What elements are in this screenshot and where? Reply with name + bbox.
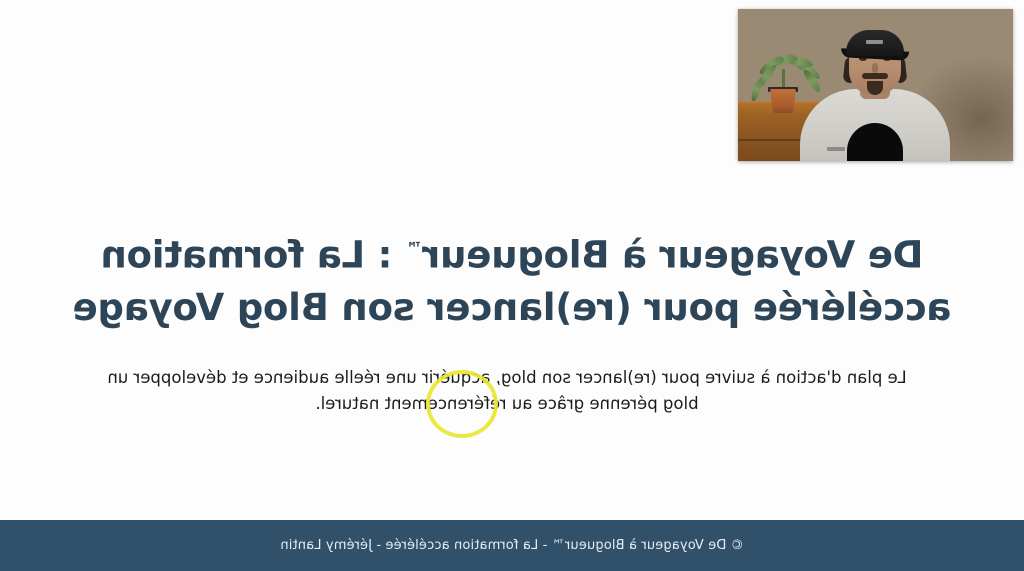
slide-title-line-1: De Voyageur à Blogueur™ : La formation [70, 222, 954, 281]
slide-title-line-1-suffix: : La formation [101, 233, 405, 276]
shirt-logo [828, 147, 846, 151]
slide-footer-text: © De Voyageur à Blogueur™ - La formation… [280, 538, 744, 553]
presenter-moustache [863, 73, 889, 79]
presenter-webcam [738, 9, 1013, 161]
slide-title-line-2: accélérée pour (re)lancer son Blog Voyag… [70, 281, 954, 334]
trademark-symbol: ™ [405, 239, 422, 258]
mirrored-frame-content: De Voyageur à Blogueur™ : La formation a… [0, 0, 1024, 571]
slide-title-line-1-prefix: De Voyageur à Blogueur [422, 233, 923, 276]
video-frame: De Voyageur à Blogueur™ : La formation a… [0, 0, 1024, 571]
plant-pot [770, 89, 796, 113]
webcam-scene [738, 9, 1013, 161]
slide-title: De Voyageur à Blogueur™ : La formation a… [70, 222, 954, 334]
slide-footer-bar: © De Voyageur à Blogueur™ - La formation… [0, 520, 1024, 571]
presenter-nose [873, 63, 879, 73]
cap-logo [867, 40, 884, 44]
slide-subtitle: Le plan d'action à suivre pour (re)lance… [90, 365, 924, 417]
